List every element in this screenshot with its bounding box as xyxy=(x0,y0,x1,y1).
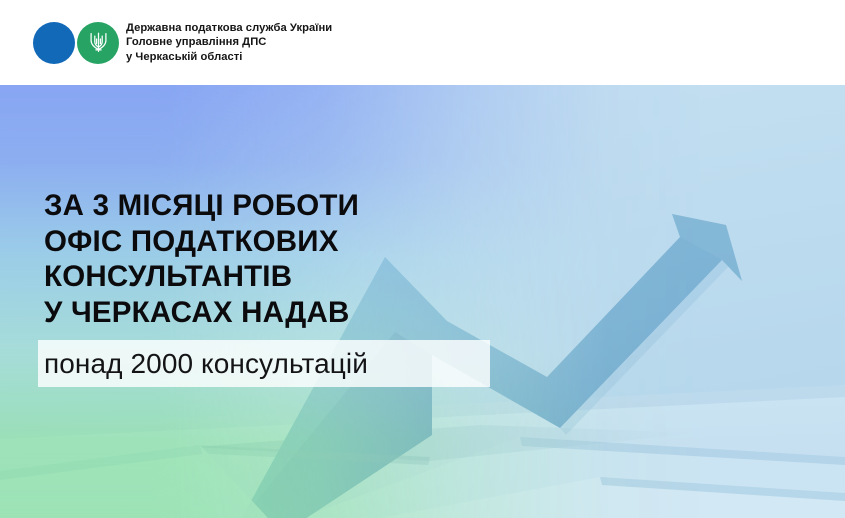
blue-circle-icon xyxy=(33,22,75,64)
headline-line-4: У ЧЕРКАСАХ НАДАВ xyxy=(44,295,359,331)
poster-root: Державна податкова служба України Головн… xyxy=(0,0,845,518)
site-header: Державна податкова служба України Головн… xyxy=(0,0,845,85)
page-title: ЗА 3 МІСЯЦІ РОБОТИ ОФІС ПОДАТКОВИХ КОНСУ… xyxy=(44,188,359,330)
headline-line-1: ЗА 3 МІСЯЦІ РОБОТИ xyxy=(44,188,359,224)
headline-line-2: ОФІС ПОДАТКОВИХ xyxy=(44,224,359,260)
org-line-3: у Черкаській області xyxy=(126,50,332,65)
logo-lockup[interactable] xyxy=(33,22,117,64)
org-line-2: Головне управління ДПС xyxy=(126,35,332,50)
trident-emblem-icon xyxy=(77,22,119,64)
organization-name: Державна податкова служба України Головн… xyxy=(126,21,332,65)
org-line-1: Державна податкова служба України xyxy=(126,21,332,36)
headline-line-3: КОНСУЛЬТАНТІВ xyxy=(44,259,359,295)
subtitle-text: понад 2000 консультацій xyxy=(44,341,496,386)
